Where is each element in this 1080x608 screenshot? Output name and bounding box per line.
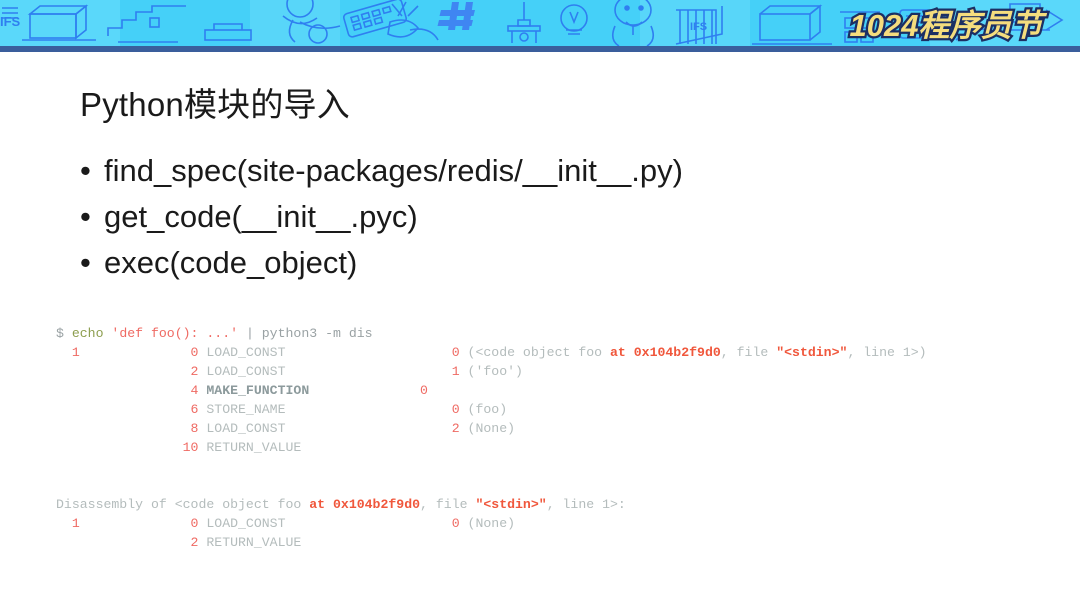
shell-string-arg: 'def foo(): ...' bbox=[111, 326, 238, 341]
event-logo: 1024程序员节 bbox=[826, 2, 1066, 46]
opcode-name: STORE_NAME bbox=[198, 402, 380, 417]
opcode-name: LOAD_CONST bbox=[198, 421, 380, 436]
source-lineno bbox=[56, 383, 151, 398]
opcode-name: LOAD_CONST bbox=[198, 516, 380, 531]
svg-text:IFS: IFS bbox=[0, 14, 21, 29]
bytecode-row: 10 RETURN_VALUE bbox=[56, 438, 1066, 457]
disassembly-header-mid: , file bbox=[420, 497, 475, 512]
bytecode-row: 1 0 LOAD_CONST 0 (<code object foo at 0x… bbox=[56, 343, 1066, 362]
bytecode-row: 4 MAKE_FUNCTION 0 bbox=[56, 381, 1066, 400]
disassembly-header-prefix: Disassembly of <code object foo bbox=[56, 497, 309, 512]
source-lineno bbox=[56, 364, 151, 379]
bytecode-row: 6 STORE_NAME 0 (foo) bbox=[56, 400, 1066, 419]
terminal-command-line: $ echo 'def foo(): ...' | python3 -m dis bbox=[56, 324, 1066, 343]
code-spacer bbox=[56, 457, 1066, 476]
bytecode-row: 2 RETURN_VALUE bbox=[56, 533, 1066, 552]
bytecode-offset: 6 bbox=[151, 402, 198, 417]
code-object-file: "<stdin>" bbox=[475, 497, 546, 512]
opcode-arg-empty bbox=[380, 440, 459, 455]
opcode-arg: 0 bbox=[380, 345, 459, 360]
svg-text:IFS: IFS bbox=[690, 21, 707, 33]
bytecode-offset: 2 bbox=[151, 535, 198, 550]
code-spacer bbox=[56, 476, 1066, 495]
opcode-name: RETURN_VALUE bbox=[198, 535, 380, 550]
source-lineno bbox=[56, 440, 151, 455]
opcode-detail-suffix: , line 1>) bbox=[847, 345, 926, 360]
list-item: • get_code(__init__.pyc) bbox=[78, 194, 1018, 240]
event-logo-text: 1024程序员节 bbox=[850, 8, 1048, 43]
bytecode-row: 2 LOAD_CONST 1 ('foo') bbox=[56, 362, 1066, 381]
bytecode-row: 8 LOAD_CONST 2 (None) bbox=[56, 419, 1066, 438]
opcode-detail-mid: , file bbox=[721, 345, 776, 360]
opcode-detail: (<code object foo bbox=[460, 345, 610, 360]
bytecode-offset: 4 bbox=[151, 383, 198, 398]
bullet-list: • find_spec(site-packages/redis/__init__… bbox=[78, 148, 1018, 286]
source-lineno: 1 bbox=[56, 345, 151, 360]
opcode-detail: (None) bbox=[460, 516, 515, 531]
opcode-arg: 0 bbox=[380, 516, 459, 531]
code-object-address: at 0x104b2f9d0 bbox=[309, 497, 420, 512]
slide-body: Python模块的导入 • find_spec(site-packages/re… bbox=[0, 52, 1080, 608]
bullet-marker: • bbox=[80, 148, 91, 194]
code-object-address: at 0x104b2f9d0 bbox=[610, 345, 721, 360]
shell-prompt: $ bbox=[56, 326, 72, 341]
opcode-arg-empty bbox=[380, 535, 459, 550]
code-object-file: "<stdin>" bbox=[776, 345, 847, 360]
shell-pipeline: | python3 -m dis bbox=[238, 326, 373, 341]
bytecode-offset: 0 bbox=[151, 345, 198, 360]
opcode-arg: 0 bbox=[380, 383, 427, 398]
source-lineno bbox=[56, 421, 151, 436]
list-item: • find_spec(site-packages/redis/__init__… bbox=[78, 148, 1018, 194]
source-lineno bbox=[56, 402, 151, 417]
bytecode-row: 1 0 LOAD_CONST 0 (None) bbox=[56, 514, 1066, 533]
source-lineno bbox=[56, 535, 151, 550]
opcode-arg: 2 bbox=[380, 421, 459, 436]
disassembly-header: Disassembly of <code object foo at 0x104… bbox=[56, 495, 1066, 514]
disassembly-header-suffix: , line 1>: bbox=[547, 497, 626, 512]
opcode-detail: (None) bbox=[460, 421, 515, 436]
bullet-text: exec(code_object) bbox=[104, 245, 357, 280]
opcode-detail: (foo) bbox=[460, 402, 507, 417]
opcode-name: LOAD_CONST bbox=[198, 345, 380, 360]
opcode-name: LOAD_CONST bbox=[198, 364, 380, 379]
list-item: • exec(code_object) bbox=[78, 240, 1018, 286]
bytecode-offset: 2 bbox=[151, 364, 198, 379]
bullet-marker: • bbox=[80, 194, 91, 240]
header-banner: IFS IFS 1024程序员节 bbox=[0, 0, 1080, 52]
bytecode-offset: 10 bbox=[151, 440, 198, 455]
shell-command: echo bbox=[72, 326, 112, 341]
bytecode-offset: 8 bbox=[151, 421, 198, 436]
opcode-arg: 0 bbox=[380, 402, 459, 417]
bullet-text: get_code(__init__.pyc) bbox=[104, 199, 418, 234]
source-lineno: 1 bbox=[56, 516, 151, 531]
opcode-detail: ('foo') bbox=[460, 364, 523, 379]
opcode-name: RETURN_VALUE bbox=[198, 440, 380, 455]
bullet-marker: • bbox=[80, 240, 91, 286]
page-title: Python模块的导入 bbox=[80, 78, 350, 126]
bytecode-offset: 0 bbox=[151, 516, 198, 531]
opcode-name: MAKE_FUNCTION bbox=[198, 383, 380, 398]
bullet-text: find_spec(site-packages/redis/__init__.p… bbox=[104, 153, 683, 188]
terminal-output: $ echo 'def foo(): ...' | python3 -m dis… bbox=[56, 324, 1066, 552]
opcode-arg: 1 bbox=[380, 364, 459, 379]
